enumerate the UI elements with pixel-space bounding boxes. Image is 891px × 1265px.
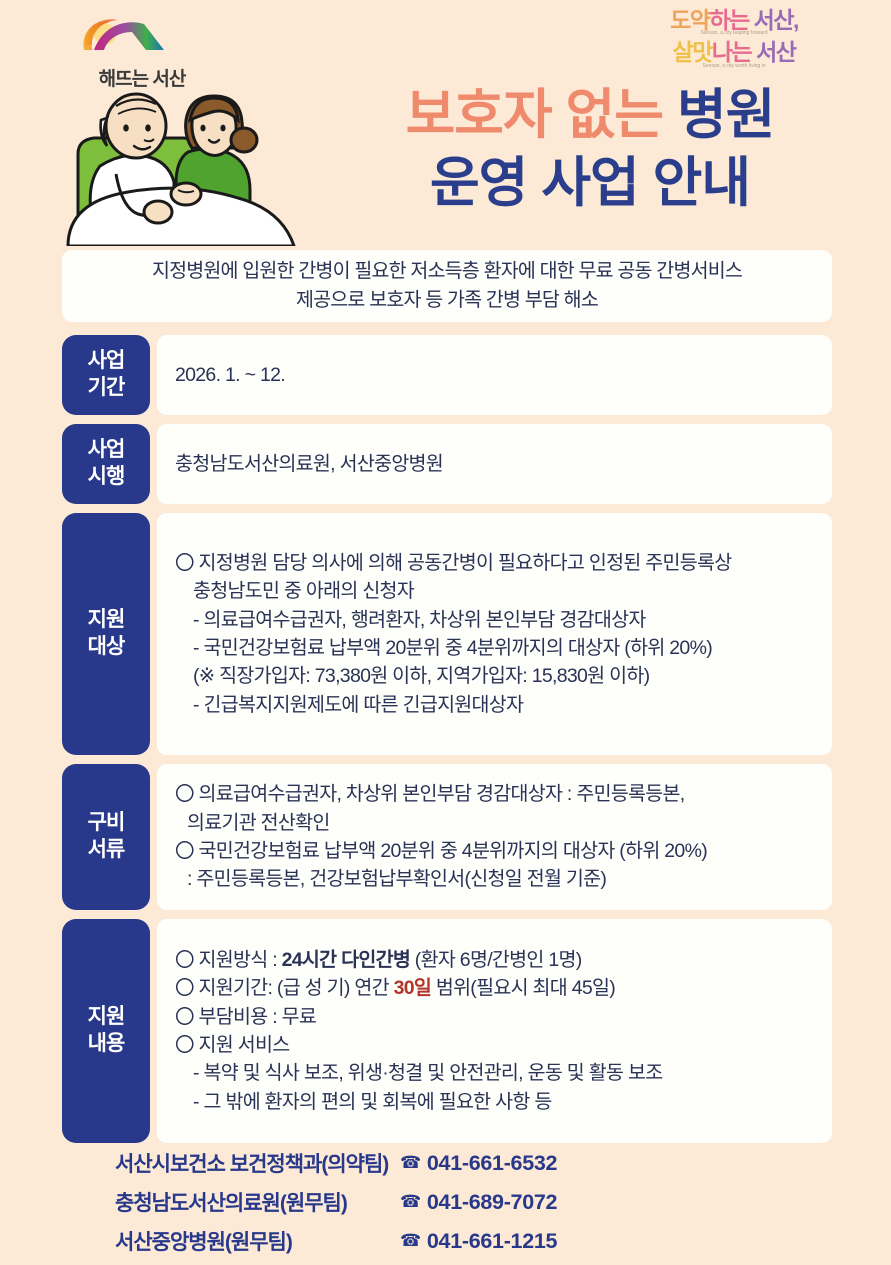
page-title: 보호자 없는 병원 운영 사업 안내: [330, 88, 850, 210]
content-business-operator: 충청남도서산의료원, 서산중앙병원: [157, 424, 832, 504]
slogan-line1-b: 하는: [709, 7, 753, 33]
slogan-line1-roman: Seosan, a city leaping forward: [639, 31, 829, 36]
contact-tel-number: 041-689-7072: [427, 1190, 557, 1215]
eligibility-line-3: - 의료급여수급권자, 행려환자, 차상위 본인부담 경감대상자: [175, 606, 818, 634]
slogan-line1-a: 도약: [670, 7, 709, 33]
documents-line-3: 〇 국민건강보험료 납부액 20분위 중 4분위까지의 대상자 (하위 20%): [175, 837, 818, 865]
row-eligibility: 지원 대상 〇 지정병원 담당 의사에 의해 공동간병이 필요하다고 인정된 주…: [62, 513, 832, 755]
contact-tel-number: 041-661-1215: [427, 1229, 557, 1254]
label-business-period: 사업 기간: [62, 335, 150, 415]
business-operator-value: 충청남도서산의료원, 서산중앙병원: [175, 450, 818, 478]
slogan-line-1: 도약하는 서산, Seosan, a city leaping forward: [639, 8, 829, 36]
label-support-details-line2: 내용: [88, 1031, 125, 1058]
contact-org: 충청남도서산의료원(원무팀): [0, 1187, 400, 1217]
contact-row: 서산중앙병원(원무팀) ☎ 041-661-1215: [0, 1226, 891, 1256]
eligibility-line-6: - 긴급복지지원제도에 따른 긴급지원대상자: [175, 691, 818, 719]
city-slogan: 도약하는 서산, Seosan, a city leaping forward …: [639, 8, 829, 69]
row-required-documents: 구비 서류 〇 의료급여수급권자, 차상위 본인부담 경감대상자 : 주민등록등…: [62, 764, 832, 910]
subtitle-line-2: 제공으로 보호자 등 가족 간병 부담 해소: [296, 286, 598, 315]
poster-header: 해뜨는 서산 도약하는 서산, Seosan, a city leaping f…: [0, 0, 891, 248]
seosan-sunrise-logo-icon: [72, 10, 212, 62]
poster-root: 해뜨는 서산 도약하는 서산, Seosan, a city leaping f…: [0, 0, 891, 1260]
label-business-period-line1: 사업: [88, 348, 125, 375]
contact-tel[interactable]: ☎ 041-661-6532: [400, 1151, 557, 1176]
slogan-line1-c: 서산,: [754, 7, 798, 33]
label-eligibility-line2: 대상: [88, 634, 125, 661]
slogan-line-2: 살맛나는 서산 Seosan, a city worth living in: [639, 40, 829, 68]
title-line-2: 운영 사업 안내: [330, 156, 850, 210]
support-line-1: 〇 지원방식 : 24시간 다인간병 (환자 6명/간병인 1명): [175, 946, 818, 974]
elderly-patient-and-caregiver-illustration: [60, 78, 310, 246]
business-period-value: 2026. 1. ~ 12.: [175, 361, 818, 389]
title-line-1: 보호자 없는 병원: [330, 88, 850, 142]
support-line1-c: (환자 6명/간병인 1명): [410, 949, 581, 971]
documents-line-4: : 주민등록등본, 건강보험납부확인서(신청일 전월 기준): [175, 865, 818, 893]
row-business-operator: 사업 시행 충청남도서산의료원, 서산중앙병원: [62, 424, 832, 504]
support-line2-highlight: 30일: [394, 977, 432, 999]
contact-tel[interactable]: ☎ 041-661-1215: [400, 1229, 557, 1254]
contact-row: 충청남도서산의료원(원무팀) ☎ 041-689-7072: [0, 1187, 891, 1217]
contact-tel[interactable]: ☎ 041-689-7072: [400, 1190, 557, 1215]
label-required-documents-line2: 서류: [88, 837, 125, 864]
label-eligibility-line1: 지원: [88, 607, 125, 634]
label-eligibility: 지원 대상: [62, 513, 150, 755]
eligibility-line-2: 충청남도민 중 아래의 신청자: [175, 577, 818, 605]
label-support-details: 지원 내용: [62, 919, 150, 1143]
slogan-line2-a: 살맛: [673, 39, 712, 65]
support-line2-c: 범위(필요시 최대 45일): [431, 977, 615, 999]
subtitle-line-1: 지정병원에 입원한 간병이 필요한 저소득층 환자에 대한 무료 공동 간병서비…: [152, 257, 742, 286]
row-business-period: 사업 기간 2026. 1. ~ 12.: [62, 335, 832, 415]
support-line1-a: 〇 지원방식 :: [175, 949, 282, 971]
support-line1-highlight: 24시간 다인간병: [282, 949, 410, 971]
support-line-6: - 그 밖에 환자의 편의 및 회복에 필요한 사항 등: [175, 1088, 818, 1116]
footer-contacts: 서산시보건소 보건정책과(의약팀) ☎ 041-661-6532 충청남도서산의…: [0, 1148, 891, 1265]
support-line2-a: 〇 지원기간: (급 성 기) 연간: [175, 977, 394, 999]
label-business-operator-line1: 사업: [88, 437, 125, 464]
title-line1-rest: 병원: [663, 85, 774, 145]
content-eligibility: 〇 지정병원 담당 의사에 의해 공동간병이 필요하다고 인정된 주민등록상 충…: [157, 513, 832, 755]
support-line-3: 〇 부담비용 : 무료: [175, 1003, 818, 1031]
contact-row: 서산시보건소 보건정책과(의약팀) ☎ 041-661-6532: [0, 1148, 891, 1178]
phone-icon: ☎: [400, 1231, 421, 1251]
eligibility-line-4: - 국민건강보험료 납부액 20분위 중 4분위까지의 대상자 (하위 20%): [175, 634, 818, 662]
row-support-details: 지원 내용 〇 지원방식 : 24시간 다인간병 (환자 6명/간병인 1명) …: [62, 919, 832, 1143]
label-business-operator: 사업 시행: [62, 424, 150, 504]
eligibility-line-1: 〇 지정병원 담당 의사에 의해 공동간병이 필요하다고 인정된 주민등록상: [175, 549, 818, 577]
contact-tel-number: 041-661-6532: [427, 1151, 557, 1176]
eligibility-line-5: (※ 직장가입자: 73,380원 이하, 지역가입자: 15,830원 이하): [175, 662, 818, 690]
phone-icon: ☎: [400, 1192, 421, 1212]
support-line-2: 〇 지원기간: (급 성 기) 연간 30일 범위(필요시 최대 45일): [175, 974, 818, 1002]
title-line1-highlight: 보호자 없는: [406, 85, 663, 145]
slogan-line2-roman: Seosan, a city worth living in: [639, 64, 829, 69]
documents-line-2: 의료기관 전산확인: [175, 809, 818, 837]
label-required-documents-line1: 구비: [88, 810, 125, 837]
phone-icon: ☎: [400, 1153, 421, 1173]
documents-line-1: 〇 의료급여수급권자, 차상위 본인부담 경감대상자 : 주민등록등본,: [175, 780, 818, 808]
contact-org: 서산시보건소 보건정책과(의약팀): [0, 1148, 400, 1178]
slogan-line2-c: 서산: [756, 39, 795, 65]
slogan-line2-b: 나는: [712, 39, 756, 65]
contact-org: 서산중앙병원(원무팀): [0, 1226, 400, 1256]
label-business-period-line2: 기간: [88, 375, 125, 402]
label-required-documents: 구비 서류: [62, 764, 150, 910]
support-line-4: 〇 지원 서비스: [175, 1031, 818, 1059]
content-support-details: 〇 지원방식 : 24시간 다인간병 (환자 6명/간병인 1명) 〇 지원기간…: [157, 919, 832, 1143]
support-line-5: - 복약 및 식사 보조, 위생·청결 및 안전관리, 운동 및 활동 보조: [175, 1059, 818, 1087]
label-support-details-line1: 지원: [88, 1004, 125, 1031]
content-business-period: 2026. 1. ~ 12.: [157, 335, 832, 415]
content-required-documents: 〇 의료급여수급권자, 차상위 본인부담 경감대상자 : 주민등록등본, 의료기…: [157, 764, 832, 910]
subtitle-card: 지정병원에 입원한 간병이 필요한 저소득층 환자에 대한 무료 공동 간병서비…: [62, 250, 832, 322]
label-business-operator-line2: 시행: [88, 464, 125, 491]
